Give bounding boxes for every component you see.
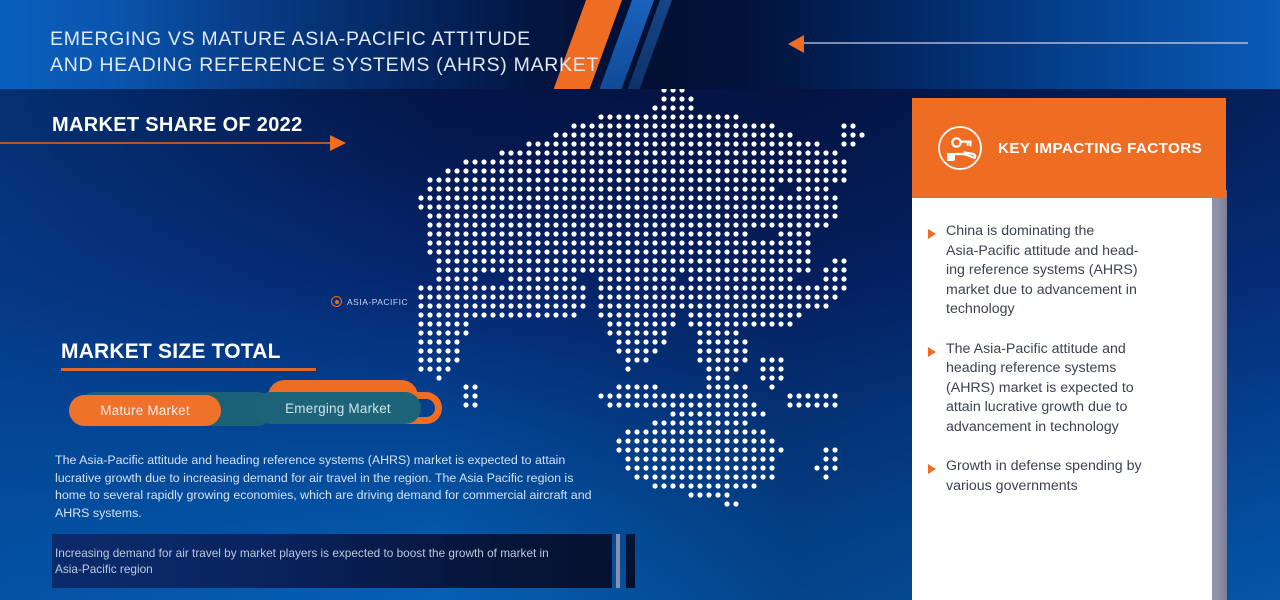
- market-size-underline: [61, 368, 316, 371]
- right-triangle-arrow-icon: [330, 135, 346, 151]
- list-item-text: The Asia-Pacific attitude and heading re…: [946, 340, 1134, 438]
- list-item-text: China is dominating the Asia-Pacific att…: [946, 222, 1138, 320]
- legend-mature-market[interactable]: Mature Market: [69, 395, 221, 426]
- list-item-text: Growth in defense spending by various go…: [946, 457, 1142, 496]
- page-title: EMERGING VS MATURE ASIA-PACIFIC ATTITUDE…: [50, 26, 599, 78]
- header-arrow-line: [803, 42, 1248, 44]
- key-factors-title: KEY IMPACTING FACTORS: [998, 140, 1202, 157]
- market-share-title: MARKET SHARE OF 2022: [52, 114, 303, 137]
- hand-holding-key-icon: [936, 124, 984, 172]
- header-arrow: [788, 32, 1248, 54]
- bullet-triangle-icon: [928, 464, 936, 474]
- banner-accent-bar-grey: [616, 534, 620, 588]
- target-dot-icon: [331, 296, 342, 307]
- market-size-title: MARKET SIZE TOTAL: [61, 340, 281, 364]
- market-share-underline: [0, 142, 332, 144]
- asia-pacific-marker: ASIA-PACIFIC: [331, 296, 408, 307]
- infographic-canvas: EMERGING VS MATURE ASIA-PACIFIC ATTITUDE…: [0, 0, 1280, 600]
- bullet-triangle-icon: [928, 229, 936, 239]
- key-factors-list: China is dominating the Asia-Pacific att…: [928, 222, 1208, 516]
- key-factors-header: KEY IMPACTING FACTORS: [912, 98, 1226, 198]
- list-item: The Asia-Pacific attitude and heading re…: [928, 340, 1208, 438]
- list-item: Growth in defense spending by various go…: [928, 457, 1208, 496]
- left-triangle-arrow-icon: [788, 35, 804, 53]
- asia-pacific-label: ASIA-PACIFIC: [347, 297, 408, 307]
- bullet-triangle-icon: [928, 347, 936, 357]
- list-item: China is dominating the Asia-Pacific att…: [928, 222, 1208, 320]
- banner-accent-bar-navy: [626, 534, 635, 588]
- bottom-banner-text: Increasing demand for air travel by mark…: [55, 545, 575, 577]
- legend-emerging-market[interactable]: Emerging Market: [255, 392, 421, 424]
- asia-pacific-dotted-map: [410, 88, 870, 508]
- body-paragraph: The Asia-Pacific attitude and heading re…: [55, 452, 595, 522]
- header-bar: EMERGING VS MATURE ASIA-PACIFIC ATTITUDE…: [0, 0, 1280, 89]
